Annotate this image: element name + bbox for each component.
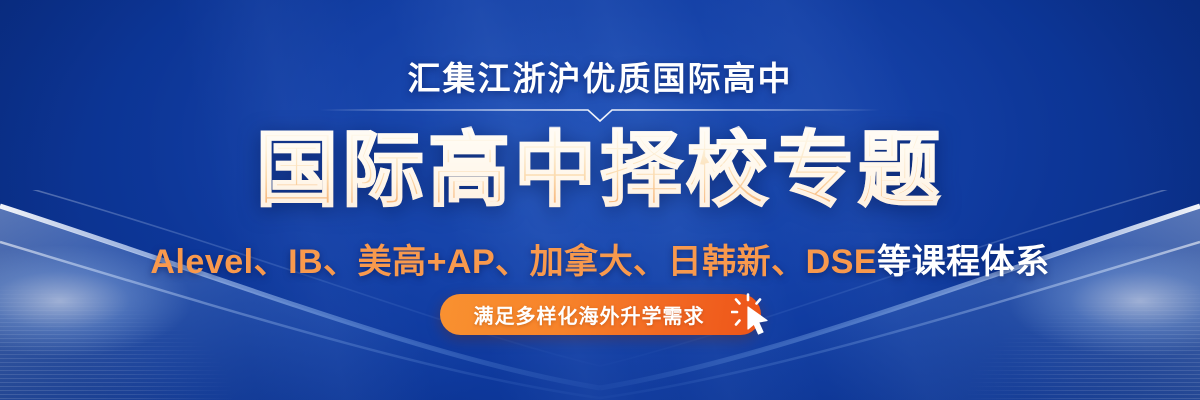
promo-banner: 汇集江浙沪优质国际高中 国际高中择校专题 Alevel、IB、美高+AP、加拿大…: [0, 0, 1200, 400]
click-cursor-icon: [731, 293, 777, 339]
subline-plain-text: 等课程体系: [877, 243, 1050, 281]
subline-highlight-text: Alevel、IB、美高+AP、加拿大、日韩新、DSE: [150, 243, 877, 281]
cta-button[interactable]: 满足多样化海外升学需求: [440, 294, 761, 335]
banner-content: 汇集江浙沪优质国际高中 国际高中择校专题 Alevel、IB、美高+AP、加拿大…: [0, 0, 1200, 400]
cta-container: 满足多样化海外升学需求: [0, 294, 1200, 335]
banner-eyebrow-text: 汇集江浙沪优质国际高中: [0, 52, 1200, 100]
banner-subline: Alevel、IB、美高+AP、加拿大、日韩新、DSE等课程体系: [0, 234, 1200, 283]
cta-button-label: 满足多样化海外升学需求: [474, 300, 705, 329]
divider-line: [0, 104, 1200, 126]
banner-headline: 国际高中择校专题: [0, 128, 1200, 214]
